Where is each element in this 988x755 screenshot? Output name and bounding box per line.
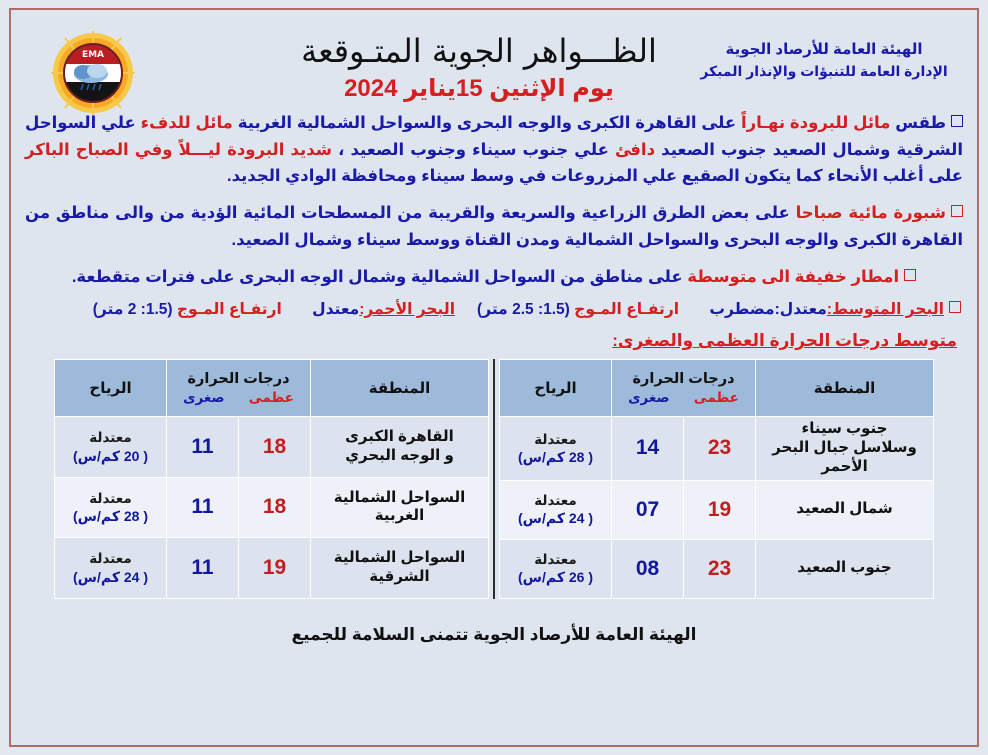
wind-state: معتدلة: [61, 550, 160, 568]
table-row: جنوب سيناء وسلاسل جبال البحر الأحمر 23 1…: [500, 417, 934, 480]
cell-wind: معتدلة ( 20 كم/س): [55, 417, 167, 477]
table-header-row: المنطقة درجات الحرارة عظمى صغرى الرياح: [55, 360, 489, 417]
mediterranean-conditions: البحر المتوسط:معتدل:مضطرب ارتفـاع المـوج…: [477, 300, 961, 319]
cell-region: القاهرة الكبرى و الوجه البحري: [311, 417, 489, 477]
wind-state: معتدلة: [61, 490, 160, 508]
temperature-heading-text: متوسط درجات الحرارة العظمى والصغرى:: [612, 331, 957, 350]
red-sea-label: البحر الأحمر:: [359, 301, 455, 318]
table-row: شمال الصعيد 19 07 معتدلة ( 24 كم/س): [500, 480, 934, 539]
cell-min-temp: 11: [167, 417, 239, 477]
temperature-section-heading: متوسط درجات الحرارة العظمى والصغرى:: [25, 331, 957, 351]
region-line-2: و الوجه البحري: [317, 447, 482, 466]
forecast-paragraph-2: شبورة مائية صباحا على بعض الطرق الزراعية…: [25, 200, 963, 253]
region-line-1: شمال الصعيد: [762, 500, 927, 519]
header-temperature: درجات الحرارة عظمى صغرى: [612, 360, 756, 417]
region-line-1: جنوب الصعيد: [762, 559, 927, 578]
wind-state: معتدلة: [506, 551, 605, 569]
cell-min-temp: 11: [167, 538, 239, 598]
p1-seg8: شديد البرودة ليـــلاً وفي الصباح الباكر: [25, 141, 332, 159]
forecast-sheet: EMA الهيئة العامة للأرصاد الجوية الإدارة…: [9, 8, 979, 747]
cell-region: جنوب الصعيد: [756, 539, 934, 598]
cell-min-temp: 11: [167, 477, 239, 537]
table-row: السواحل الشمالية الغربية 18 11 معتدلة ( …: [55, 477, 489, 537]
header-region: المنطقة: [756, 360, 934, 417]
temperature-tables: المنطقة درجات الحرارة عظمى صغرى الرياح: [25, 359, 963, 598]
header-max: عظمى: [694, 390, 739, 406]
bullet-icon: [951, 205, 963, 217]
wind-state: معتدلة: [506, 431, 605, 449]
cell-region: السواحل الشمالية الغربية: [311, 477, 489, 537]
page-title: الظـــواهر الجوية المتـوقعة: [11, 32, 947, 70]
cell-max-temp: 18: [239, 477, 311, 537]
header-temperature: درجات الحرارة عظمى صغرى: [167, 360, 311, 417]
header-temperature-label: درجات الحرارة: [616, 371, 751, 388]
wind-speed: ( 26 كم/س): [506, 568, 605, 586]
cell-max-temp: 19: [684, 480, 756, 539]
p1-seg3: على القاهرة الكبرى والوجه البحرى والسواح…: [233, 114, 741, 132]
wind-speed: ( 24 كم/س): [506, 509, 605, 527]
p1-seg6: دافئ: [615, 141, 655, 159]
header-min: صغرى: [628, 390, 669, 406]
cell-region: شمال الصعيد: [756, 480, 934, 539]
region-line-1: القاهرة الكبرى: [317, 428, 482, 447]
bullet-icon: [951, 115, 963, 127]
header-min: صغرى: [183, 390, 224, 406]
forecast-date: يوم الإثنين 15يناير 2024: [11, 74, 947, 103]
wind-state: معتدلة: [61, 429, 160, 447]
p1-seg4: مائل للدفء: [141, 114, 233, 132]
forecast-paragraph-3: امطار خفيفة الى متوسطة على مناطق من السو…: [25, 264, 963, 291]
p1-seg9: على أغلب الأنحاء كما يتكون الصقيع علي ال…: [227, 167, 963, 185]
p3-seg2: على مناطق من السواحل الشمالية وشمال الوج…: [72, 268, 687, 286]
p3-seg1: امطار خفيفة الى متوسطة: [687, 268, 899, 286]
mediterranean-label: البحر المتوسط:: [827, 301, 944, 318]
header-region: المنطقة: [311, 360, 489, 417]
cell-wind: معتدلة ( 28 كم/س): [500, 417, 612, 480]
cell-max-temp: 23: [684, 417, 756, 480]
cell-region: جنوب سيناء وسلاسل جبال البحر الأحمر: [756, 417, 934, 480]
temperature-table-left: المنطقة درجات الحرارة عظمى صغرى الرياح: [499, 359, 934, 598]
cell-wind: معتدلة ( 24 كم/س): [55, 538, 167, 598]
cell-max-temp: 18: [239, 417, 311, 477]
wind-speed: ( 24 كم/س): [61, 568, 160, 586]
table-header-row: المنطقة درجات الحرارة عظمى صغرى الرياح: [500, 360, 934, 417]
cell-wind: معتدلة ( 26 كم/س): [500, 539, 612, 598]
forecast-paragraph-1: طقس مائل للبرودة نهـاراً على القاهرة الك…: [25, 110, 963, 190]
cell-wind: معتدلة ( 28 كم/س): [55, 477, 167, 537]
table-row: جنوب الصعيد 23 08 معتدلة ( 26 كم/س): [500, 539, 934, 598]
cell-max-temp: 23: [684, 539, 756, 598]
table-row: السواحل الشمالية الشرقية 19 11 معتدلة ( …: [55, 538, 489, 598]
p1-seg1: طقس: [890, 114, 946, 132]
mediterranean-wave-value: (1.5: 2.5 متر): [477, 301, 570, 318]
mediterranean-state: معتدل:مضطرب: [709, 301, 826, 318]
wind-speed: ( 20 كم/س): [61, 447, 160, 465]
forecast-body: طقس مائل للبرودة نهـاراً على القاهرة الك…: [11, 110, 977, 645]
cell-max-temp: 19: [239, 538, 311, 598]
p1-seg7: علي جنوب سيناء وجنوب الصعيد ،: [332, 141, 615, 159]
p1-seg2: مائل للبرودة نهـاراً: [741, 114, 890, 132]
region-line-1: السواحل الشمالية الغربية: [317, 489, 482, 527]
region-line-2: وسلاسل جبال البحر الأحمر: [762, 439, 927, 477]
page-canvas: EMA الهيئة العامة للأرصاد الجوية الإدارة…: [0, 0, 988, 755]
mediterranean-wave-label: ارتفـاع المـوج: [574, 301, 679, 318]
header-temperature-label: درجات الحرارة: [171, 371, 306, 388]
wind-speed: ( 28 كم/س): [61, 507, 160, 525]
cell-wind: معتدلة ( 24 كم/س): [500, 480, 612, 539]
table-divider: [493, 359, 495, 598]
header-max: عظمى: [249, 390, 294, 406]
bullet-icon: [904, 269, 916, 281]
wind-state: معتدلة: [506, 492, 605, 510]
cell-region: السواحل الشمالية الشرقية: [311, 538, 489, 598]
region-line-1: جنوب سيناء: [762, 420, 927, 439]
footer-message: الهيئة العامة للأرصاد الجوية تتمنى السلا…: [25, 625, 963, 645]
header-wind: الرياح: [500, 360, 612, 417]
temperature-table-right: المنطقة درجات الحرارة عظمى صغرى الرياح: [54, 359, 489, 598]
title-block: الظـــواهر الجوية المتـوقعة يوم الإثنين …: [11, 32, 977, 103]
red-sea-wave-label: ارتفـاع المـوج: [177, 301, 282, 318]
red-sea-conditions: البحر الأحمر:معتدل ارتفـاع المـوج (1.5: …: [93, 300, 455, 319]
table-row: القاهرة الكبرى و الوجه البحري 18 11 معتد…: [55, 417, 489, 477]
cell-min-temp: 14: [612, 417, 684, 480]
cell-min-temp: 07: [612, 480, 684, 539]
sea-conditions: البحر المتوسط:معتدل:مضطرب ارتفـاع المـوج…: [25, 300, 963, 319]
document-header: EMA الهيئة العامة للأرصاد الجوية الإدارة…: [11, 10, 977, 110]
wind-speed: ( 28 كم/س): [506, 448, 605, 466]
region-line-1: السواحل الشمالية الشرقية: [317, 549, 482, 587]
cell-min-temp: 08: [612, 539, 684, 598]
bullet-icon: [949, 301, 961, 313]
red-sea-state: معتدل: [312, 301, 359, 318]
p2-seg1: شبورة مائية صباحا: [796, 204, 946, 222]
header-wind: الرياح: [55, 360, 167, 417]
red-sea-wave-value: (1.5: 2 متر): [93, 301, 173, 318]
